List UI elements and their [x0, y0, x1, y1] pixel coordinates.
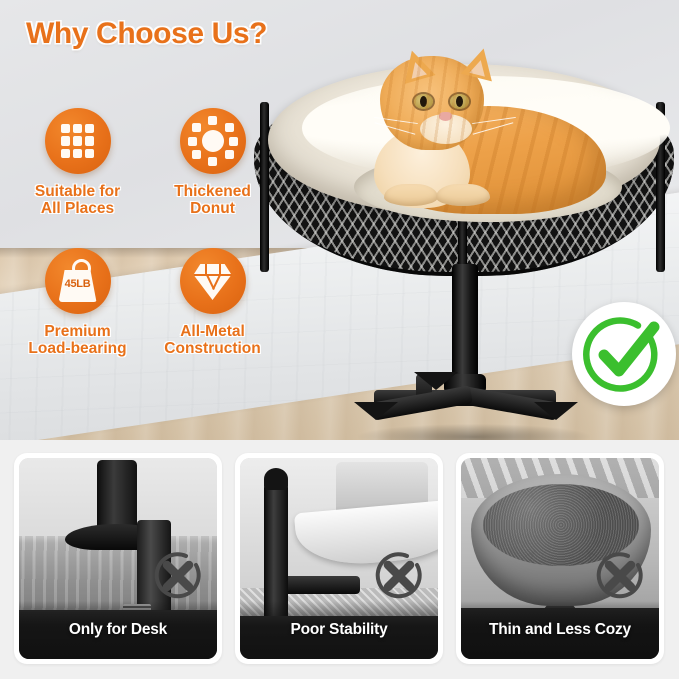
- cat-eye-left: [414, 94, 433, 109]
- feature-thickened-donut[interactable]: Thickened Donut: [140, 108, 285, 218]
- feature-label-line2: Donut: [140, 200, 285, 217]
- feature-label: Thickened Donut: [140, 183, 285, 218]
- feature-label-line1: Suitable for: [5, 183, 150, 200]
- panel-photo: Poor Stability: [240, 458, 438, 659]
- comparison-panel-poor-stability[interactable]: Poor Stability: [235, 453, 443, 664]
- green-check-icon: [582, 312, 666, 396]
- feature-label: All-Metal Construction: [140, 323, 285, 358]
- feature-label-line1: Thickened: [140, 183, 285, 200]
- base-foot-left: [354, 402, 398, 420]
- base-foot-right: [534, 402, 578, 420]
- cat-nose: [439, 112, 452, 121]
- feature-label-line1: All-Metal: [140, 323, 285, 340]
- panel-caption: Only for Desk: [69, 621, 167, 639]
- donut-icon: [180, 108, 246, 174]
- cat: [358, 42, 608, 222]
- weight-icon: 45LB: [45, 248, 111, 314]
- cat-ear-left: [396, 46, 435, 84]
- comparison-section: Only for Desk: [0, 440, 679, 679]
- feature-label-line2: Construction: [140, 340, 285, 357]
- cat-muzzle: [420, 114, 472, 144]
- base-foot-back: [414, 372, 458, 390]
- feature-premium-load-bearing[interactable]: 45LB Premium Load-bearing: [5, 248, 150, 358]
- base-shadow: [358, 424, 590, 440]
- feature-label-line2: All Places: [5, 200, 150, 217]
- grid-icon: [45, 108, 111, 174]
- cat-paw-right: [436, 184, 490, 206]
- panel-caption-bar: Poor Stability: [240, 601, 438, 659]
- red-x-icon: [372, 549, 426, 603]
- feature-all-metal-construction[interactable]: All-Metal Construction: [140, 248, 285, 358]
- feature-suitable-for-all-places[interactable]: Suitable for All Places: [5, 108, 150, 218]
- red-x-icon: [151, 549, 205, 603]
- infographic-page: Why Choose Us? Suitable for All Places: [0, 0, 679, 679]
- cat-head: [380, 56, 484, 150]
- weight-capacity-label: 45LB: [58, 278, 98, 290]
- panel-caption: Poor Stability: [290, 621, 387, 639]
- red-x-icon: [593, 549, 647, 603]
- comparison-panel-thin-and-less-cozy[interactable]: Thin and Less Cozy: [456, 453, 664, 664]
- cat-ear-right: [461, 45, 499, 82]
- panel-photo: Only for Desk: [19, 458, 217, 659]
- approval-badge: [572, 302, 676, 406]
- hero-section: Why Choose Us? Suitable for All Places: [0, 0, 679, 440]
- cat-eye-right: [450, 94, 469, 109]
- comparison-panel-only-for-desk[interactable]: Only for Desk: [14, 453, 222, 664]
- diamond-icon: [180, 248, 246, 314]
- feature-label: Premium Load-bearing: [5, 323, 150, 358]
- panel-caption-bar: Only for Desk: [19, 601, 217, 659]
- panel-caption: Thin and Less Cozy: [489, 621, 631, 639]
- cat-paw-left: [384, 184, 438, 206]
- feature-label: Suitable for All Places: [5, 183, 150, 218]
- panel-photo: Thin and Less Cozy: [461, 458, 659, 659]
- feature-label-line2: Load-bearing: [5, 340, 150, 357]
- panel-caption-bar: Thin and Less Cozy: [461, 601, 659, 659]
- feature-label-line1: Premium: [5, 323, 150, 340]
- feature-list: Suitable for All Places: [0, 0, 290, 440]
